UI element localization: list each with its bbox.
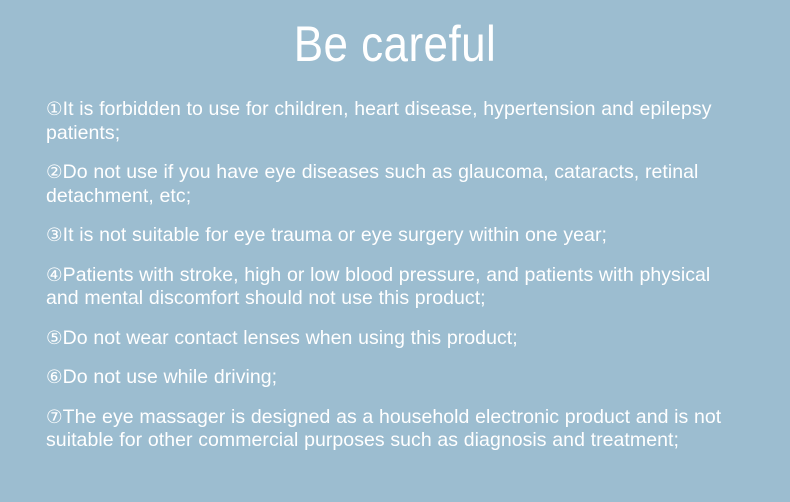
caution-item-4: ④Patients with stroke, high or low blood… <box>46 264 746 311</box>
caution-marker-7: ⑦ <box>46 407 63 428</box>
caution-text-1: It is forbidden to use for children, hea… <box>46 98 712 144</box>
caution-text-7: The eye massager is designed as a househ… <box>46 406 721 452</box>
caution-text-3: It is not suitable for eye trauma or eye… <box>63 224 607 246</box>
caution-marker-5: ⑤ <box>46 328 63 349</box>
page-title: Be careful <box>47 13 742 75</box>
caution-marker-2: ② <box>46 162 63 183</box>
caution-item-6: ⑥Do not use while driving; <box>46 366 746 390</box>
caution-list: ①It is forbidden to use for children, he… <box>46 98 746 453</box>
caution-item-7: ⑦The eye massager is designed as a house… <box>46 406 746 453</box>
caution-text-5: Do not wear contact lenses when using th… <box>63 327 518 349</box>
caution-item-3: ③It is not suitable for eye trauma or ey… <box>46 224 746 248</box>
caution-item-1: ①It is forbidden to use for children, he… <box>46 98 746 145</box>
caution-text-2: Do not use if you have eye diseases such… <box>46 161 698 207</box>
caution-item-2: ②Do not use if you have eye diseases suc… <box>46 161 746 208</box>
caution-item-5: ⑤Do not wear contact lenses when using t… <box>46 327 746 351</box>
caution-marker-1: ① <box>46 99 63 120</box>
caution-text-6: Do not use while driving; <box>63 366 278 388</box>
caution-text-4: Patients with stroke, high or low blood … <box>46 264 710 310</box>
caution-marker-4: ④ <box>46 265 63 286</box>
caution-marker-3: ③ <box>46 225 63 246</box>
warning-notice-card: Be careful ①It is forbidden to use for c… <box>0 0 790 502</box>
caution-marker-6: ⑥ <box>46 367 63 388</box>
